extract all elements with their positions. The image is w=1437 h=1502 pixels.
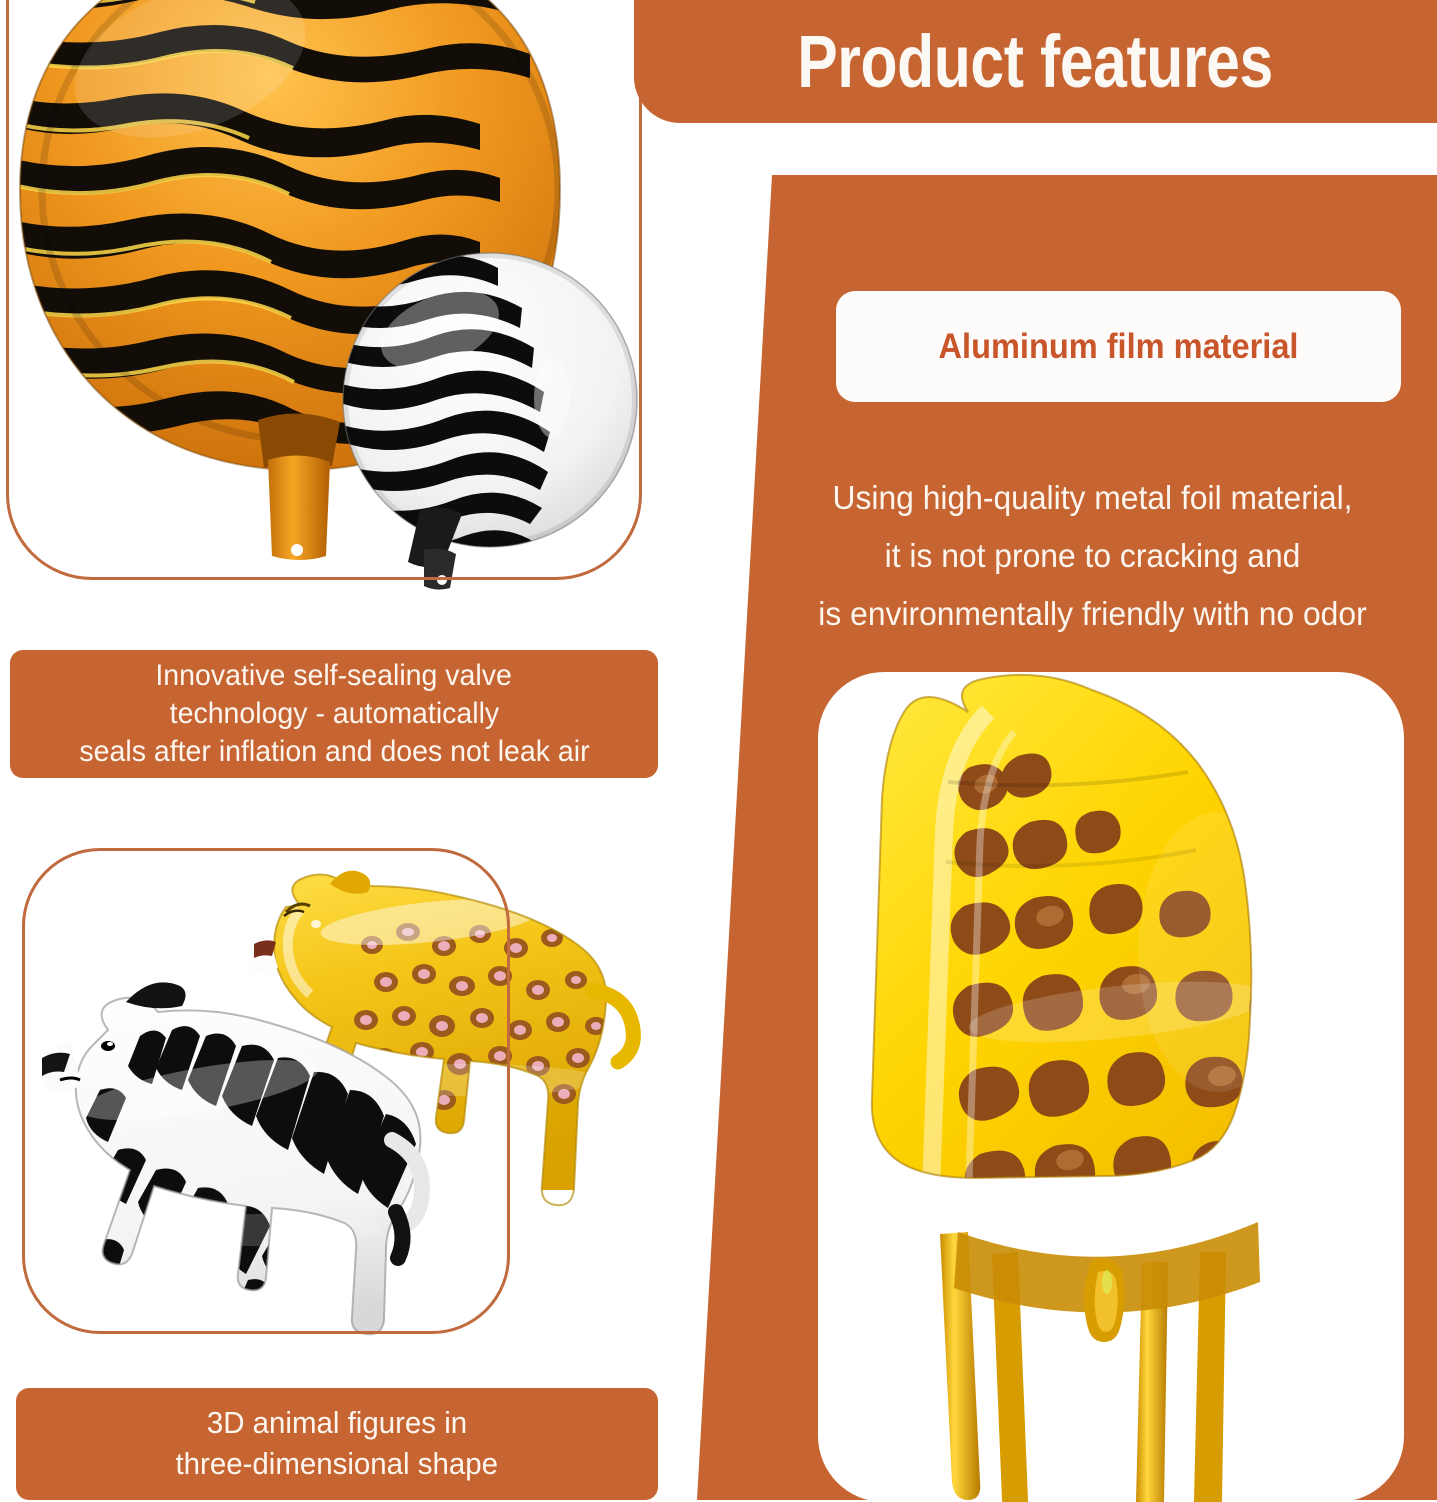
photo-frame-top <box>6 0 642 580</box>
giraffe-balloon-illustration <box>818 672 1404 1502</box>
material-description-line-3: is environmentally friendly with no odor <box>777 586 1409 644</box>
caption-3d-line-1: 3D animal figures in <box>207 1402 467 1443</box>
product-features-header: Product features <box>634 0 1437 123</box>
caption-valve-line-3: seals after inflation and does not leak … <box>79 733 589 771</box>
caption-3d-line-2: three-dimensional shape <box>176 1443 499 1484</box>
material-description-line-2: it is not prone to cracking and <box>777 528 1409 586</box>
aluminum-film-material-title: Aluminum film material <box>939 327 1299 367</box>
caption-valve-line-2: technology - automatically <box>169 695 499 733</box>
photo-frame-bottom <box>22 848 510 1334</box>
page-title: Product features <box>798 25 1274 99</box>
caption-valve-line-1: Innovative self-sealing valve <box>156 657 512 695</box>
aluminum-film-material-card: Aluminum film material <box>836 291 1401 402</box>
material-description: Using high-quality metal foil material, … <box>760 470 1425 644</box>
giraffe-balloon-photo <box>818 672 1404 1502</box>
caption-self-sealing-valve: Innovative self-sealing valve technology… <box>10 650 658 778</box>
material-description-line-1: Using high-quality metal foil material, <box>777 470 1409 528</box>
caption-3d-animal-figures: 3D animal figures in three-dimensional s… <box>16 1388 658 1500</box>
